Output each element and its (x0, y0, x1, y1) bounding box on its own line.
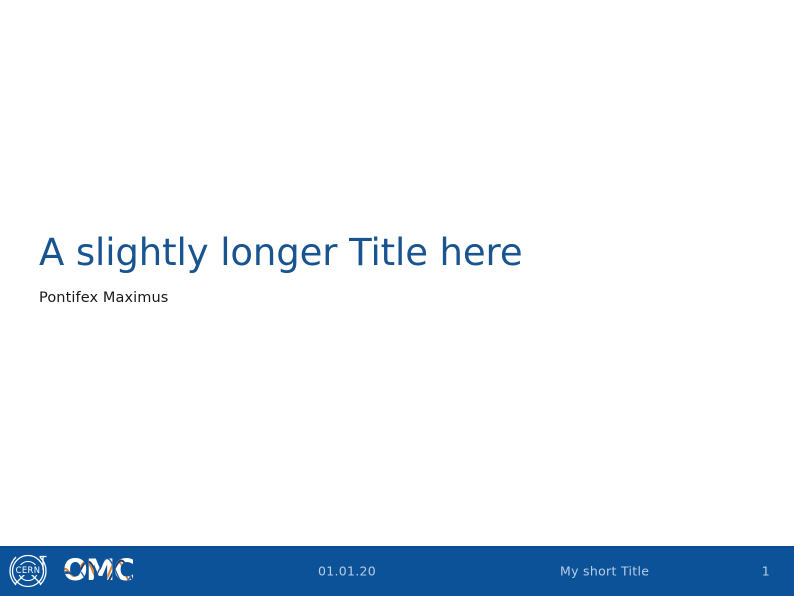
cern-logo: CERN (7, 550, 53, 592)
footer-bar: CERN OMC OMC (0, 546, 794, 596)
footer-short-title: My short Title (560, 564, 649, 579)
omc-logo: OMC OMC (61, 553, 161, 589)
title-block: A slightly longer Title here Pontifex Ma… (39, 232, 739, 306)
page-title: A slightly longer Title here (39, 232, 739, 273)
footer-page-number: 1 (762, 564, 770, 579)
slide-author: Pontifex Maximus (39, 290, 739, 306)
presentation-slide: A slightly longer Title here Pontifex Ma… (0, 0, 794, 596)
svg-text:CERN: CERN (16, 565, 41, 575)
footer-logo-group: CERN OMC OMC (7, 550, 161, 592)
footer-date: 01.01.20 (318, 564, 376, 579)
footer-divider (0, 546, 794, 548)
